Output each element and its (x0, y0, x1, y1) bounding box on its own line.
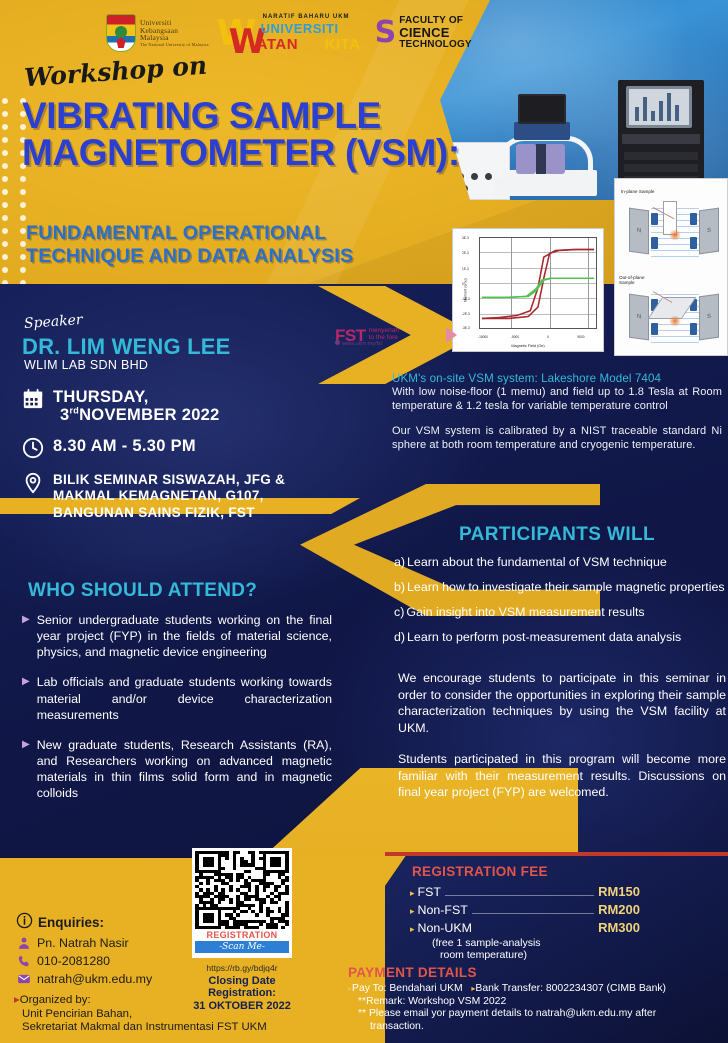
fst-science: CIENCE (399, 26, 472, 40)
naratif-baharu-logo: NARATIF BAHARU UKM W W UNIVERSITI ATAN K… (217, 12, 367, 54)
chart-series-paths (480, 238, 596, 328)
in-plane-caption: In-plane Sample (621, 189, 657, 194)
description-heading: UKM's on-site VSM system: Lakeshore Mode… (392, 372, 722, 385)
registration-fee-title: REGISTRATION FEE (412, 864, 548, 879)
payment-pay-to: Pay To: Bendahari UKM (352, 983, 463, 994)
enquiries-block: Enquiries: Pn. Natrah Nasir 010-2081280 … (16, 912, 152, 986)
enquiries-email[interactable]: natrah@ukm.edu.my (37, 972, 152, 986)
fst-technology: TECHNOLOGY (399, 40, 472, 51)
ukm-line-4: The National University of Malaysia (140, 43, 209, 47)
chart-xtick-0: -10000 (478, 335, 488, 339)
list-item: ▶Lab officials and graduate students wor… (22, 674, 332, 722)
enquiries-email-row: natrah@ukm.edu.my (16, 971, 152, 986)
list-item: a)Learn about the fundamental of VSM tec… (394, 555, 728, 570)
clock-icon (22, 437, 44, 459)
enquiries-phone[interactable]: 010-2081280 (37, 954, 110, 968)
chart-plot-area (479, 237, 597, 329)
s-glyph-icon: S (375, 20, 397, 46)
list-item: c)Gain insight into VSM measurement resu… (394, 605, 728, 620)
leader-line (445, 895, 594, 896)
universiti-text: UNIVERSITI (261, 21, 339, 36)
globe-icon (335, 340, 340, 345)
table-row: ▸ Non-UKM RM300 (410, 920, 640, 935)
triangle-bullet-icon: ▶ (22, 737, 30, 802)
list-item: ▶Senior undergraduate students working o… (22, 612, 332, 660)
list-item: d)Learn to perform post-measurement data… (394, 630, 728, 645)
triangle-bullet-icon: ▶ (22, 612, 30, 660)
faculty-science-technology-logo: S FACULTY OF CIENCE TECHNOLOGY (375, 16, 472, 51)
qr-code-icon[interactable] (195, 851, 289, 929)
who-should-attend-title: WHO SHOULD ATTEND? (28, 580, 257, 602)
chart-xtick-2: 0 (547, 335, 549, 339)
registration-fee-note: (free 1 sample-analysis room temperature… (432, 938, 541, 962)
vsm-equipment-photo (440, 0, 728, 200)
fst-badge: FST menyerlah to the fore www.ukm.my/fst (335, 318, 455, 352)
payment-email-note-2: transaction. (348, 1021, 728, 1034)
speaker-organization: WLIM LAB SDN BHD (24, 358, 148, 372)
red-divider (385, 852, 728, 856)
atan-text: ATAN (257, 36, 298, 53)
chart-xtick-1: -5000 (511, 335, 519, 339)
enquiries-person: Pn. Natrah Nasir (37, 936, 129, 950)
date-ordinal: rd (69, 406, 79, 416)
time-row: 8.30 AM - 5.30 PM (22, 437, 196, 459)
date-row: THURSDAY, 3rdNOVEMBER 2022 (22, 388, 220, 424)
participants-paragraph-1: We encourage students to participate in … (398, 670, 726, 736)
payment-email-note-1: ** Please email yor payment details to n… (348, 1008, 728, 1021)
payment-line-1: ▸Pay To: Bendahari UKM ▸Bank Transfer: 8… (348, 983, 728, 996)
kita-text: KITA (325, 36, 361, 53)
participants-title: PARTICIPANTS WILL (392, 524, 722, 546)
fee-note-line2: room temperature) (432, 949, 527, 961)
payment-remark: **Remark: Workshop VSM 2022 (348, 996, 728, 1009)
hysteresis-chart: Moment (emu) Magnetic Field (Oe) 3E-3 2E… (452, 228, 604, 352)
date-month-year: NOVEMBER 2022 (79, 406, 220, 424)
registration-url[interactable]: https://rb.gy/bdjq4r (186, 963, 298, 973)
date-text: THURSDAY, 3rdNOVEMBER 2022 (53, 388, 220, 424)
bullet-icon: ▸ (410, 906, 415, 917)
sample-orientation-diagram: In-plane Sample N S Out-of-plane Sample … (614, 178, 728, 356)
participants-paragraph-2: Students participated in this program wi… (398, 751, 726, 801)
envelope-icon (16, 971, 31, 986)
bullet-icon: ▸ (410, 888, 415, 899)
chart-ytick-0: 3E-3 (462, 236, 469, 240)
list-item: ▶New graduate students, Research Assista… (22, 737, 332, 802)
chart-ytick-2: 1E-3 (462, 267, 469, 271)
fst-logo-text: FACULTY OF CIENCE TECHNOLOGY (399, 16, 472, 51)
chart-ytick-6: -3E-3 (462, 326, 470, 330)
list-item: b)Learn how to investigate their sample … (394, 580, 728, 595)
logo-bar: Universiti Kebangsaan Malaysia The Natio… (106, 9, 472, 57)
chart-xtick-3: 5000 (577, 335, 584, 339)
ukm-logo-text: Universiti Kebangsaan Malaysia The Natio… (140, 19, 209, 47)
organizer-block: ▸Organized by: Unit Pencirian Bahan, Sek… (14, 994, 344, 1035)
table-row: ▸ FST RM150 (410, 884, 640, 899)
organized-by-label: Organized by: (20, 994, 91, 1006)
enquiries-header: Enquiries: (16, 912, 152, 932)
closing-date-line1: Closing Date (208, 975, 275, 987)
payment-bank: Bank Transfer: 8002234307 (CIMB Bank) (475, 983, 666, 994)
page-title: VIBRATING SAMPLE MAGNETOMETER (VSM): (22, 98, 462, 171)
enquiries-phone-row: 010-2081280 (16, 953, 152, 968)
ukm-shield-icon (106, 14, 136, 52)
calendar-icon (22, 388, 44, 410)
out-of-plane-magnet-unit: N S (623, 281, 725, 353)
who-should-attend-list: ▶Senior undergraduate students working o… (22, 612, 332, 815)
fst-badge-website: www.ukm.my/fst (335, 340, 382, 347)
person-icon (16, 935, 31, 950)
pole-south-in-plane: S (699, 208, 719, 255)
enquiries-person-row: Pn. Natrah Nasir (16, 935, 152, 950)
ukm-logo: Universiti Kebangsaan Malaysia The Natio… (106, 14, 209, 52)
payment-details-title: PAYMENT DETAILS (348, 965, 477, 980)
participants-paragraphs: We encourage students to participate in … (398, 670, 726, 801)
chart-ytick-3: 0 (462, 282, 464, 286)
arrow-right-icon (446, 327, 457, 343)
vsm-description: UKM's on-site VSM system: Lakeshore Mode… (392, 372, 722, 452)
chart-ytick-1: 2E-3 (462, 251, 469, 255)
triangle-bullet-icon: ▶ (22, 674, 30, 722)
poster: Universiti Kebangsaan Malaysia The Natio… (0, 0, 728, 1043)
pole-south-out-plane: S (699, 294, 719, 341)
vsm-magnet-graphic (488, 91, 603, 196)
table-row: ▸ Non-FST RM200 (410, 902, 640, 917)
payment-details-body: ▸Pay To: Bendahari UKM ▸Bank Transfer: 8… (348, 983, 728, 1034)
time-text: 8.30 AM - 5.30 PM (53, 437, 196, 455)
organizer-line-1: Unit Pencirian Bahan, (14, 1008, 132, 1020)
description-paragraph-1: With low noise-floor (1 memu) and field … (392, 385, 722, 413)
registration-qr-card[interactable]: REGISTRATION -Scan Me- (192, 848, 292, 958)
pole-north-out-plane: N (629, 294, 649, 341)
leader-line (472, 913, 594, 914)
info-icon (16, 912, 33, 932)
date-day: 3 (53, 406, 69, 424)
organizer-line-2: Sekretariat Makmal dan Instrumentasi FST… (14, 1021, 267, 1033)
participants-list: a)Learn about the fundamental of VSM tec… (394, 555, 728, 655)
chart-ytick-4: -1E-3 (462, 297, 470, 301)
venue-row: BILIK SEMINAR SISWAZAH, JFG & MAKMAL KEM… (22, 472, 342, 521)
description-paragraph-2: Our VSM system is calibrated by a NIST t… (392, 424, 722, 452)
enquiries-title: Enquiries: (38, 915, 104, 930)
location-pin-icon (22, 472, 44, 494)
pole-north-in-plane: N (629, 208, 649, 255)
chart-ytick-5: -2E-3 (462, 312, 470, 316)
chart-x-axis-label: Magnetic Field (Oe) (453, 344, 603, 348)
registration-fee-table: ▸ FST RM150 ▸ Non-FST RM200 ▸ Non-UKM RM… (410, 884, 640, 938)
speaker-name: DR. LIM WENG LEE (22, 334, 231, 360)
bullet-icon: ▸ (410, 924, 415, 935)
venue-text: BILIK SEMINAR SISWAZAH, JFG & MAKMAL KEM… (53, 472, 342, 521)
in-plane-magnet-unit: N S (623, 195, 725, 267)
page-subtitle: FUNDAMENTAL OPERATIONAL TECHNIQUE AND DA… (26, 222, 446, 267)
fee-note-line1: (free 1 sample-analysis (432, 937, 541, 949)
date-weekday: THURSDAY, (53, 388, 149, 406)
phone-icon (16, 953, 31, 968)
naratif-tagline: NARATIF BAHARU UKM (263, 14, 350, 20)
ukm-line-3: Malaysia (140, 34, 209, 42)
qr-scan-me-label: -Scan Me- (195, 941, 289, 953)
qr-registration-label: REGISTRATION (195, 930, 289, 940)
